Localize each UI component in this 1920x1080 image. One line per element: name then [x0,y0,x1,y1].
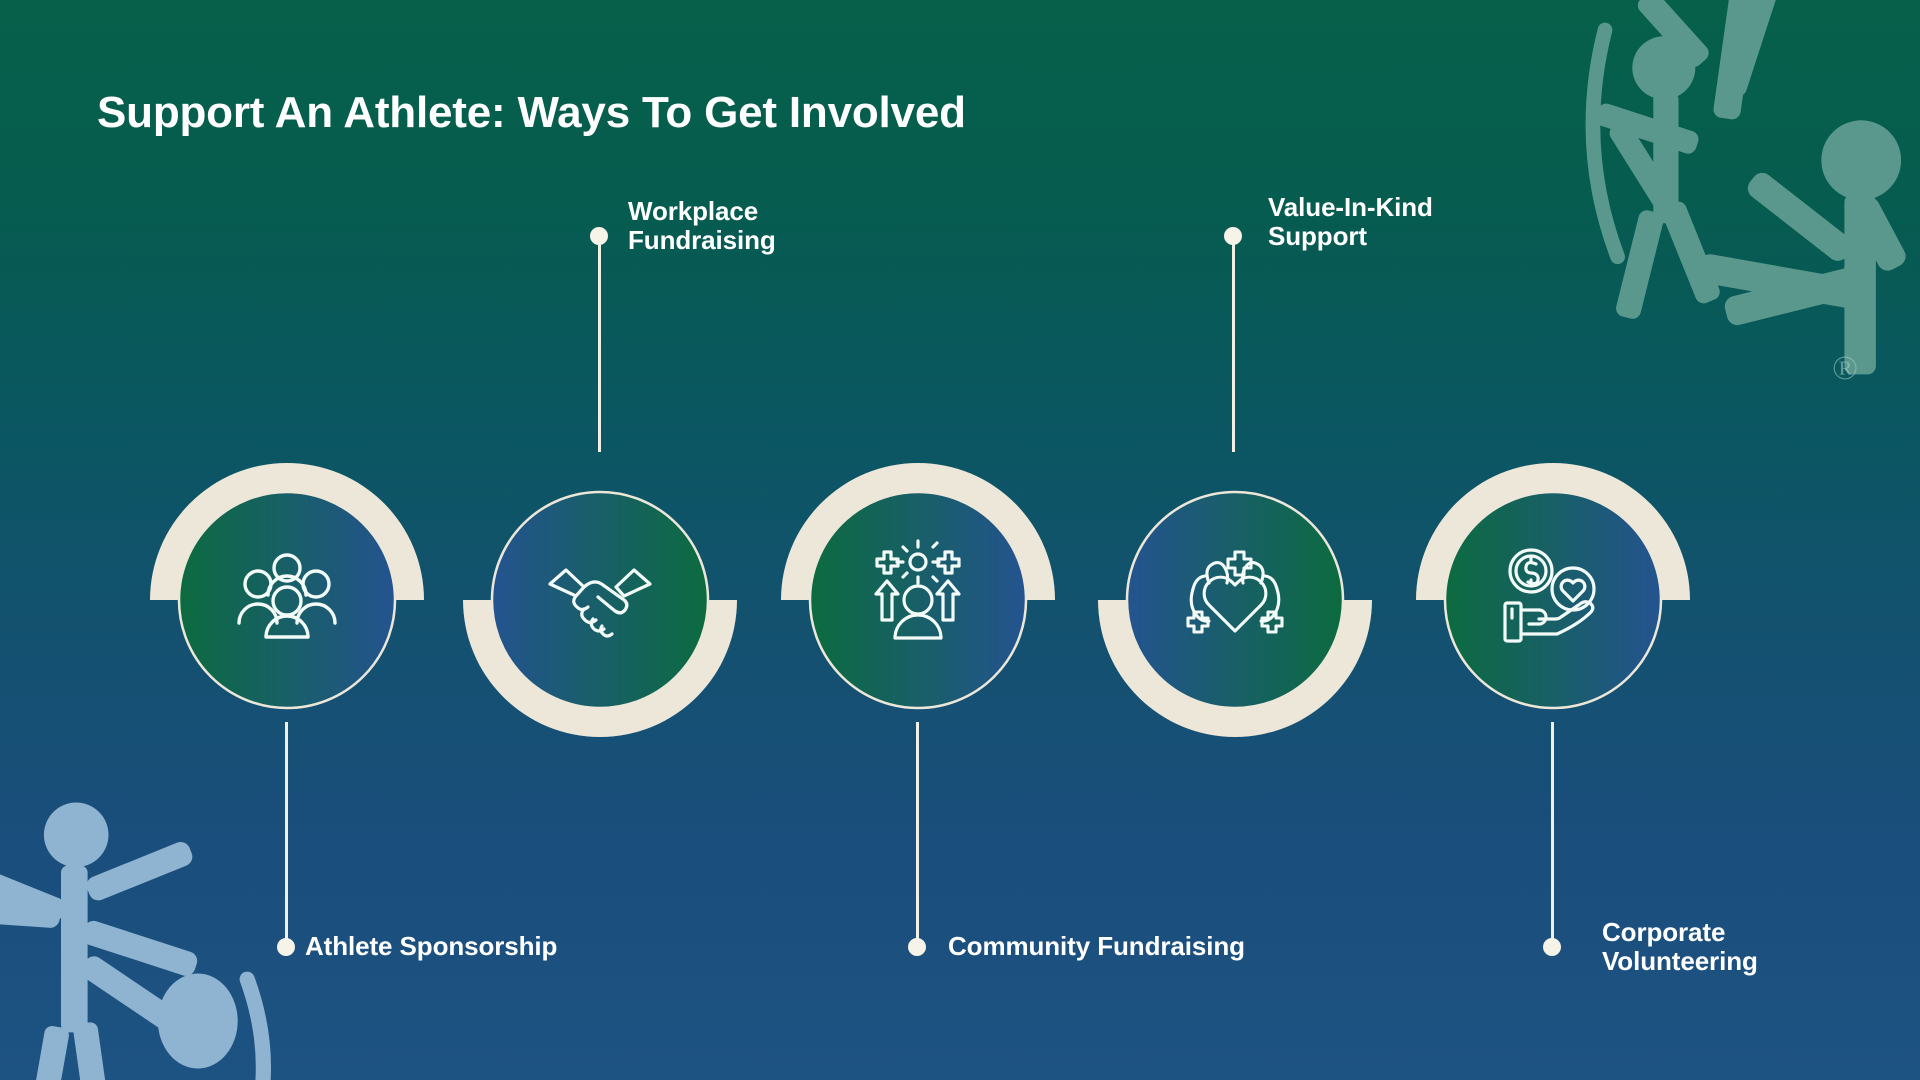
node-athlete-sponsorship[interactable] [142,452,432,742]
connector-dot-athlete-sponsorship [277,938,295,956]
node-community-fundraising[interactable] [773,452,1063,742]
people-group-icon [227,537,347,657]
node-label-athlete-sponsorship: Athlete Sponsorship [305,932,557,961]
handshake-icon [540,537,660,657]
connector-line-community-fundraising [916,722,919,946]
node-label-community-fundraising: Community Fundraising [948,932,1245,961]
node-value-in-kind-support[interactable] [1090,452,1380,742]
registered-trademark-mark: ® [1832,352,1858,386]
node-label-workplace-fundraising: Workplace Fundraising [628,197,776,256]
connector-dot-workplace-fundraising [590,227,608,245]
connector-dot-corporate-volunteering [1543,938,1561,956]
connector-line-athlete-sponsorship [285,722,288,946]
node-label-value-in-kind-support: Value-In-Kind Support [1268,193,1433,252]
connector-dot-community-fundraising [908,938,926,956]
connector-line-corporate-volunteering [1551,722,1554,946]
node-workplace-fundraising[interactable] [455,452,745,742]
page-title: Support An Athlete: Ways To Get Involved [97,88,966,138]
connector-dot-value-in-kind-support [1224,227,1242,245]
connector-line-workplace-fundraising [598,240,601,452]
person-growth-sun-icon [858,537,978,657]
heart-strong-arms-icon [1175,537,1295,657]
node-label-corporate-volunteering: Corporate Volunteering [1602,918,1758,977]
infographic-slide: ® Support An Athlete: Ways To Get Involv… [0,0,1920,1080]
special-olympics-logo-top-right [1542,0,1920,392]
node-corporate-volunteering[interactable] [1408,452,1698,742]
hand-coin-heart-icon [1493,537,1613,657]
connector-line-value-in-kind-support [1232,240,1235,452]
special-olympics-logo-bottom-left [0,750,308,1080]
